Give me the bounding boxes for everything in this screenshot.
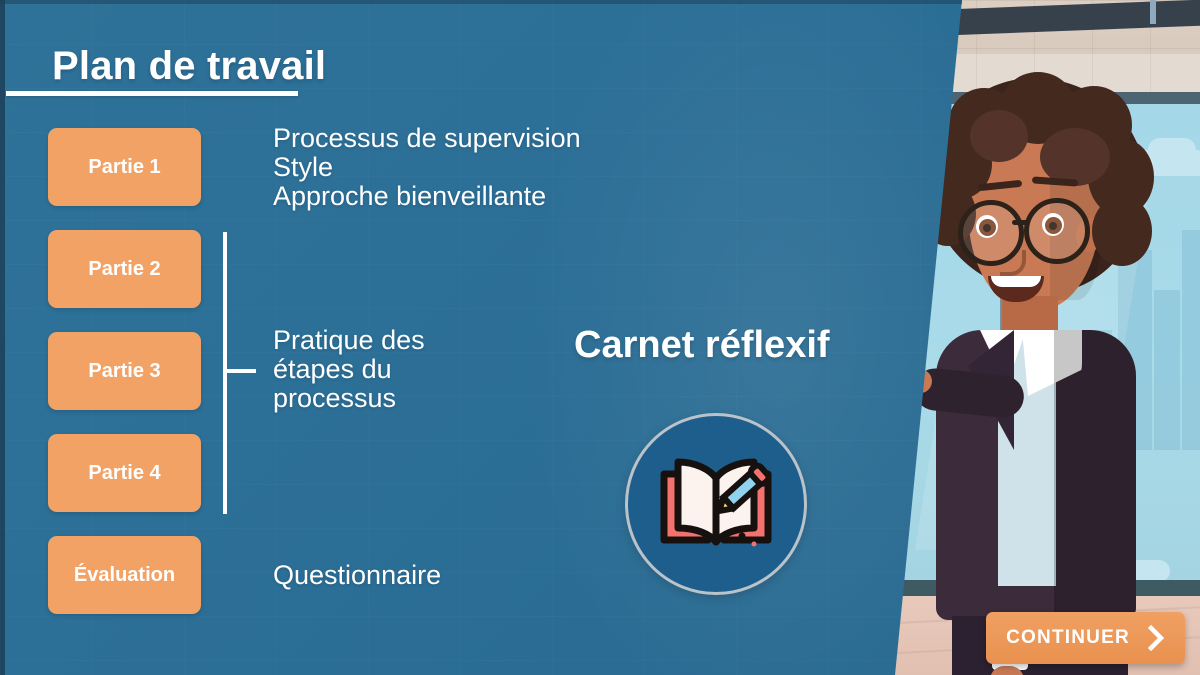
description-partie-1: Processus de supervision Style Approche … [273, 124, 581, 211]
chip-partie-1[interactable]: Partie 1 [48, 128, 201, 206]
open-book-with-pencil-icon [658, 450, 774, 558]
continue-button[interactable]: CONTINUER [986, 612, 1185, 664]
grouping-bracket-tick [223, 369, 256, 373]
chip-partie-4[interactable]: Partie 4 [48, 434, 201, 512]
feature-heading: Carnet réflexif [574, 324, 830, 367]
continue-button-label: CONTINUER [1006, 627, 1130, 649]
chip-partie-3[interactable]: Partie 3 [48, 332, 201, 410]
title-underline [6, 91, 298, 96]
left-edge-strip [0, 0, 5, 675]
chip-partie-2[interactable]: Partie 2 [48, 230, 201, 308]
page-title: Plan de travail [52, 44, 326, 89]
description-evaluation: Questionnaire [273, 561, 441, 590]
top-edge-strip [0, 0, 962, 4]
teeth [991, 276, 1041, 287]
glasses-bridge [1012, 220, 1028, 225]
hair-curl [1092, 196, 1152, 266]
grouping-bracket-vertical [223, 232, 227, 514]
jacket-shadow [1054, 330, 1136, 620]
carnet-reflexif-badge[interactable] [625, 413, 807, 595]
slide-root: Plan de travail Partie 1 Partie 2 Partie… [0, 0, 1200, 675]
hair-highlight [970, 110, 1028, 162]
chip-evaluation[interactable]: Évaluation [48, 536, 201, 614]
chevron-right-icon [1148, 625, 1165, 651]
description-parties-2-4: Pratique des étapes du processus [273, 326, 425, 413]
glasses-lens [1024, 198, 1090, 264]
